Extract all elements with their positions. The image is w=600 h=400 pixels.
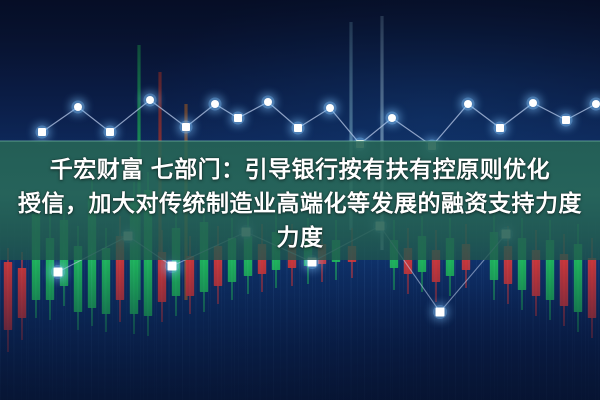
lower-chart-node-6 (436, 308, 445, 317)
lower-chart-node-4 (308, 258, 317, 267)
chart-node-15 (529, 99, 537, 107)
chart-node-7 (264, 98, 272, 106)
chart-node-12 (428, 142, 436, 150)
news-thumbnail: 千宏财富 七部门：引导银行按有扶有控原则优化 授信，加大对传统制造业高端化等发展… (0, 0, 600, 400)
caption-line-3: 力度 (0, 220, 600, 254)
chart-node-9 (326, 104, 334, 112)
chart-node-2 (106, 128, 114, 136)
lower-chart-node-2 (168, 262, 177, 271)
chart-node-10 (356, 140, 364, 148)
chart-node-0 (38, 128, 46, 136)
chart-node-14 (496, 124, 504, 132)
chart-node-17 (592, 100, 600, 108)
zigzag-polyline (42, 100, 596, 146)
caption-text: 千宏财富 七部门：引导银行按有扶有控原则优化 授信，加大对传统制造业高端化等发展… (0, 152, 600, 254)
chart-node-8 (294, 124, 302, 132)
chart-node-13 (464, 100, 472, 108)
zigzag-node-group (36, 94, 600, 153)
chart-node-5 (211, 100, 219, 108)
chart-node-1 (74, 103, 82, 111)
caption-line-2: 授信，加大对传统制造业高端化等发展的融资支持力度 (0, 186, 600, 220)
chart-node-3 (146, 96, 154, 104)
lower-chart-node-0 (54, 268, 63, 277)
caption-line-1: 千宏财富 七部门：引导银行按有扶有控原则优化 (0, 152, 600, 186)
chart-node-11 (388, 114, 396, 122)
chart-node-4 (182, 123, 190, 131)
chart-node-16 (562, 116, 570, 124)
chart-node-6 (234, 114, 242, 122)
